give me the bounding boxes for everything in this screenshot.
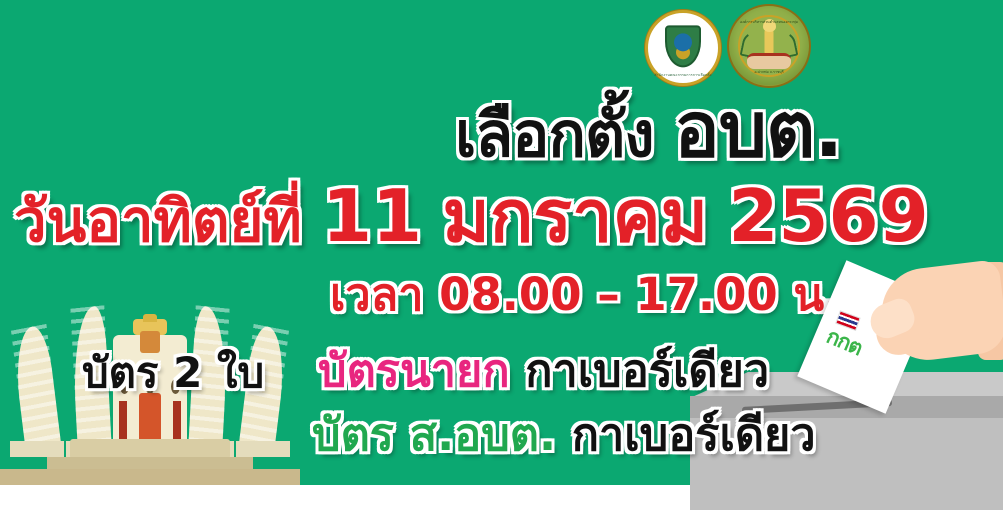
torch-icon [765, 28, 774, 54]
ballot-instruction-member-text: กาเบอร์เดียว [572, 408, 816, 461]
emblem-group: สำนักงานคณะกรรมการการเลือกตั้ง องค์การบร… [645, 4, 820, 90]
subdistrict-administrative-organization-seal-icon: องค์การบริหารส่วนตำบลหนองกระทุ่ม อ.ปากท่… [727, 4, 811, 88]
ballot-instruction-member: บัตร ส.อบต. กาเบอร์เดียว [312, 412, 816, 457]
seal-ring-text-top: องค์การบริหารส่วนตำบลหนองกระทุ่ม [740, 19, 798, 25]
election-commission-seal-icon: สำนักงานคณะกรรมการการเลือกตั้ง [645, 10, 721, 86]
election-banner: สำนักงานคณะกรรมการการเลือกตั้ง องค์การบร… [0, 0, 1003, 510]
ballot-instruction-mayor: บัตรนายก กาเบอร์เดียว [318, 348, 769, 393]
ballot-count-label: บัตร 2 ใบ [82, 352, 264, 394]
date-month: มกราคม [442, 174, 708, 258]
page-title: เลือกตั้ง อบต. [455, 92, 842, 168]
monument-wing [11, 324, 61, 450]
date-year: 2569 [728, 174, 928, 258]
hand-casting-vote-illustration [872, 254, 1003, 384]
date-day: 11 [322, 174, 422, 258]
election-time: เวลา 08.00 – 17.00 น. [330, 272, 841, 317]
monument-ground [0, 469, 300, 485]
seal-ring-text: สำนักงานคณะกรรมการการเลือกตั้ง [654, 73, 711, 78]
headline-prefix: เลือกตั้ง [455, 98, 654, 171]
monument-red-pillar [119, 401, 127, 441]
monument-plinth-upper [70, 439, 230, 459]
seal-ring-text-bottom: อ.ปากท่อ จ.ราชบุรี [754, 69, 783, 75]
ballot-label-mayor: บัตรนายก [318, 344, 510, 397]
seal-crest [665, 25, 701, 67]
monument-wing-base [10, 441, 64, 457]
monument-wing-base [236, 441, 290, 457]
time-label: เวลา [330, 268, 424, 321]
time-dash: – [597, 268, 620, 321]
ballot-label-member: บัตร ส.อบต. [312, 408, 556, 461]
ballot-instruction-mayor-text: กาเบอร์เดียว [525, 344, 769, 397]
time-end: 17.00 [635, 268, 777, 321]
handshake-icon [747, 53, 791, 69]
monument-door [139, 393, 161, 441]
ballot-paper-mark: กกต [823, 326, 864, 359]
monument-red-pillar [173, 401, 181, 441]
time-start: 08.00 [439, 268, 581, 321]
headline-main: อบต. [674, 85, 842, 174]
election-date: วันอาทิตย์ที่ 11 มกราคม 2569 [14, 180, 929, 252]
date-prefix: วันอาทิตย์ที่ [14, 187, 302, 255]
